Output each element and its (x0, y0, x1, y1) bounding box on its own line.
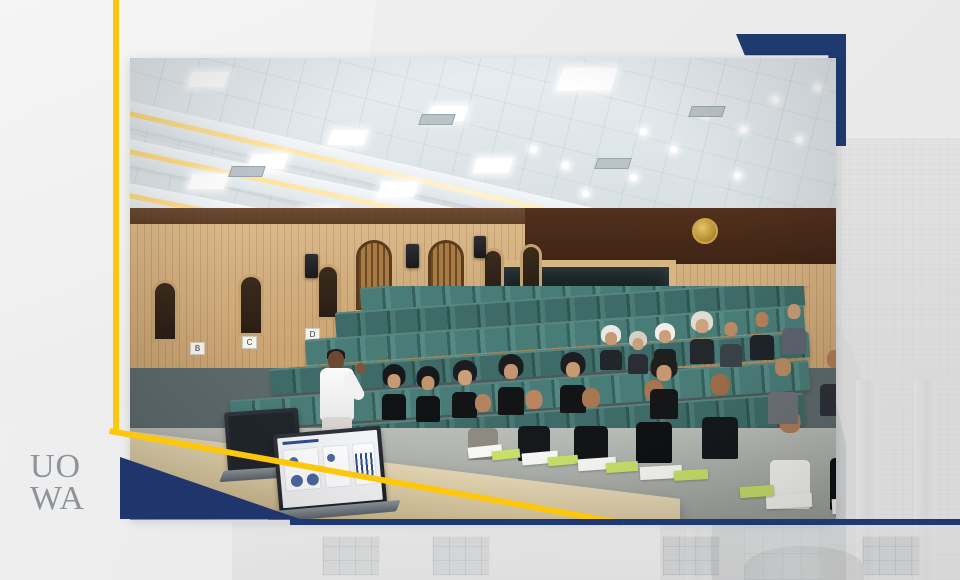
spot-light (530, 146, 537, 153)
green-notebook (740, 485, 775, 498)
head (458, 370, 472, 385)
student-figure (720, 320, 742, 360)
door-icon (520, 244, 542, 292)
slide-title-bar (282, 439, 318, 445)
torso (382, 394, 406, 420)
head (756, 312, 769, 327)
spot-light (734, 172, 741, 179)
panel-light (556, 68, 617, 90)
head (711, 374, 730, 395)
student-figure (820, 350, 836, 406)
navy-horizontal-rule (290, 519, 960, 525)
torso (636, 422, 672, 463)
head (827, 350, 836, 368)
air-vent (688, 106, 726, 117)
panel-light (473, 158, 514, 173)
torso (650, 389, 678, 419)
panel-light (188, 174, 229, 189)
notebook-page (832, 497, 836, 514)
spot-light (562, 162, 569, 169)
student-figure (628, 334, 648, 368)
torso (600, 350, 622, 371)
uowa-logo[interactable]: UO WA (30, 452, 85, 514)
panel-light (188, 72, 229, 87)
spot-light (582, 190, 589, 197)
head (633, 338, 644, 350)
speaker-icon (406, 244, 419, 268)
head (582, 388, 600, 408)
head (725, 322, 738, 336)
torso (782, 328, 806, 354)
speaker-icon (474, 236, 486, 258)
head (566, 362, 580, 377)
student-figure (650, 358, 678, 410)
head (659, 330, 671, 343)
wall-emblem-icon (692, 218, 718, 244)
student-figure (830, 404, 836, 494)
spot-light (630, 174, 637, 181)
spot-light (772, 96, 779, 103)
head (422, 376, 435, 390)
speaker-icon (305, 254, 318, 278)
wall-dark-band (525, 208, 836, 264)
head (775, 358, 791, 376)
torso (702, 417, 738, 459)
head (788, 304, 801, 319)
window-icon (432, 536, 490, 576)
spot-light (640, 128, 647, 135)
student-figure (768, 358, 798, 414)
yellow-frame-line-vertical (113, 0, 119, 434)
faded-campus-architecture-lower (232, 522, 960, 580)
student-figure (416, 370, 440, 414)
shrub-icon (744, 546, 864, 580)
green-notebook (674, 469, 708, 481)
logo-line-1: UO (30, 452, 85, 482)
torso (750, 335, 774, 359)
banner-canvas: B C D E F (0, 0, 960, 580)
air-vent (418, 114, 456, 125)
head (696, 319, 709, 333)
student-figure (468, 394, 498, 450)
student-figure (750, 310, 774, 352)
hand (356, 363, 365, 374)
ceiling (130, 58, 836, 226)
window-icon (322, 536, 380, 576)
logo-line-2: WA (30, 484, 85, 514)
torso (690, 339, 714, 363)
head (526, 390, 543, 409)
wall-dark-band (130, 208, 525, 224)
air-vent (228, 166, 266, 177)
air-vent (594, 158, 632, 169)
window-icon (862, 536, 920, 576)
panel-light (328, 130, 369, 145)
student-figure (382, 368, 406, 412)
window-icon (662, 536, 720, 576)
head (657, 365, 672, 381)
head (605, 332, 617, 345)
student-figure (518, 390, 550, 450)
torso (820, 384, 836, 416)
head (388, 374, 401, 388)
spot-light (796, 136, 803, 143)
student-figure (574, 388, 608, 452)
head (504, 364, 518, 379)
student-figure (782, 302, 806, 346)
torso (416, 396, 440, 422)
panel-light (378, 182, 419, 197)
head (475, 394, 491, 412)
student-figure (702, 374, 738, 446)
spot-light (740, 126, 747, 133)
torso (628, 354, 648, 374)
student-figure (690, 314, 714, 356)
torso (720, 344, 742, 367)
spot-light (670, 146, 677, 153)
spot-light (814, 84, 821, 91)
student-figure (600, 328, 622, 364)
torso (768, 392, 798, 424)
